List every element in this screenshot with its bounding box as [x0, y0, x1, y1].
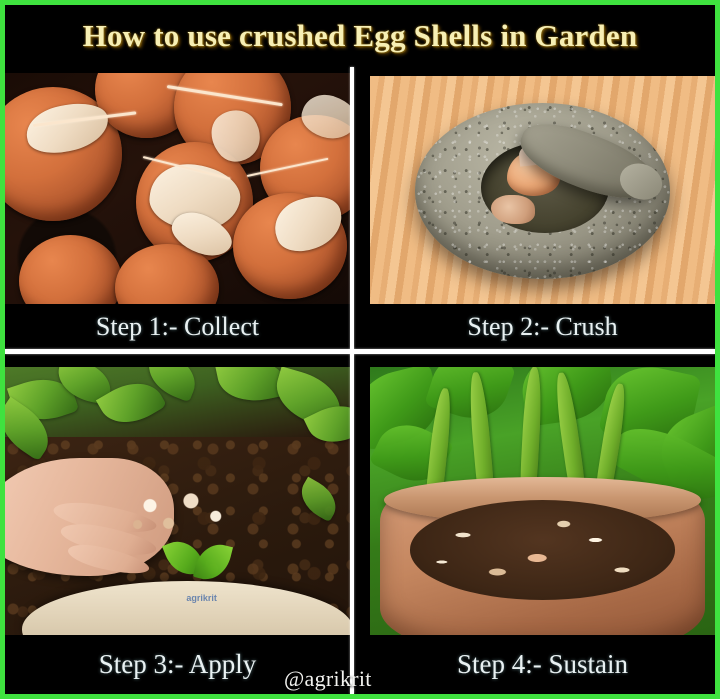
caption-step-4: Step 4:- Sustain: [370, 635, 715, 694]
logo-text: agrikrit: [164, 593, 240, 603]
agrikrit-logo: agrikrit: [164, 536, 240, 606]
step-panel-collect: Step 1:- Collect: [5, 67, 350, 349]
mortar-bowl: [415, 103, 670, 279]
crushed-shell-handful: [119, 482, 243, 541]
steps-grid: Step 1:- Collect Step 2:- Crush: [5, 67, 715, 694]
page-title: How to use crushed Egg Shells in Garden: [83, 18, 638, 54]
eggshell-pile-illustration: [5, 73, 350, 304]
pot-soil: [410, 500, 676, 600]
hand-applying-shells-illustration: agrikrit: [5, 367, 350, 635]
photo-apply: agrikrit: [5, 367, 350, 635]
mortar-pestle-illustration: [370, 76, 715, 304]
watermark-handle: @agrikrit: [284, 666, 372, 692]
eggshell-garden-infographic: How to use crushed Egg Shells in Garden: [0, 0, 720, 699]
photo-crush: [370, 76, 715, 304]
potted-plant-illustration: [370, 367, 715, 635]
step-panel-crush: Step 2:- Crush: [370, 67, 715, 349]
caption-step-2: Step 2:- Crush: [370, 304, 715, 349]
eggshell-mulch: [410, 500, 676, 600]
step-panel-sustain: Step 4:- Sustain: [370, 357, 715, 694]
photo-sustain: [370, 367, 715, 635]
caption-text: Step 4:- Sustain: [457, 649, 628, 680]
title-bar: How to use crushed Egg Shells in Garden: [5, 5, 715, 67]
photo-collect: [5, 73, 350, 304]
caption-text: Step 2:- Crush: [467, 312, 617, 342]
vertical-divider: [350, 67, 354, 694]
leaf-icon: [193, 539, 233, 584]
caption-text: Step 3:- Apply: [99, 649, 257, 680]
caption-text: Step 1:- Collect: [96, 312, 259, 342]
step-panel-apply: agrikrit Step 3:- Apply: [5, 357, 350, 694]
caption-step-1: Step 1:- Collect: [5, 304, 350, 349]
horizontal-divider: [5, 349, 715, 354]
terracotta-pot: [380, 485, 704, 635]
